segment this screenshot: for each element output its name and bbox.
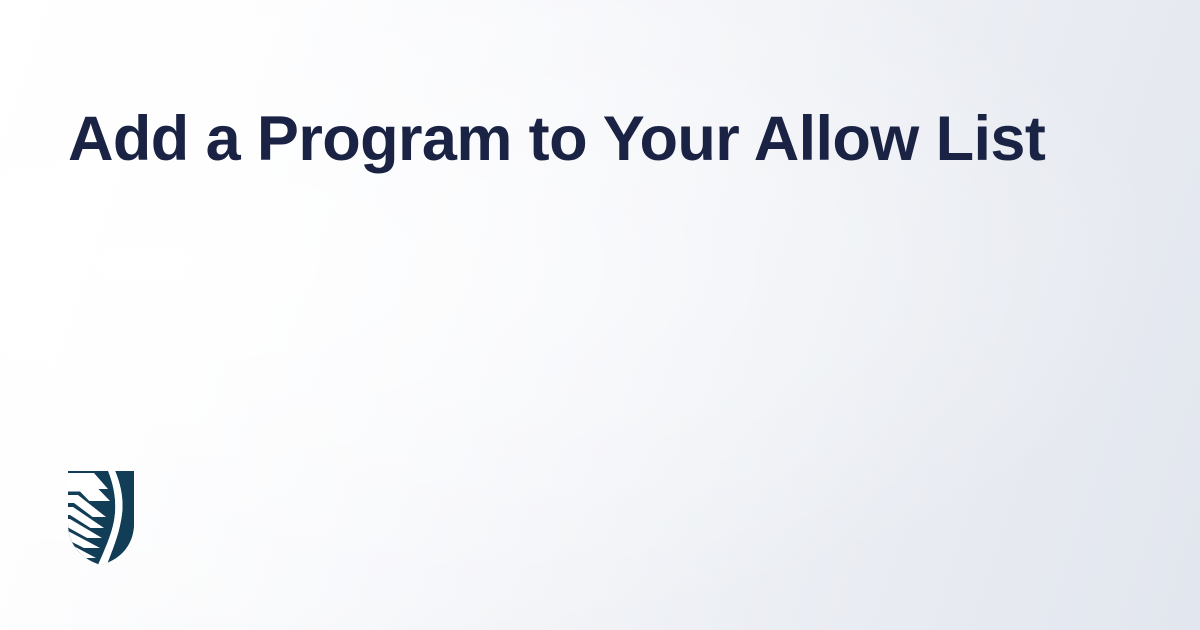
brand-logo	[68, 471, 134, 565]
page-title: Add a Program to Your Allow List	[68, 104, 1078, 175]
open-graph-card: Add a Program to Your Allow List	[0, 0, 1200, 630]
shield-logo-icon	[68, 471, 134, 565]
card-content: Add a Program to Your Allow List	[0, 0, 1200, 630]
